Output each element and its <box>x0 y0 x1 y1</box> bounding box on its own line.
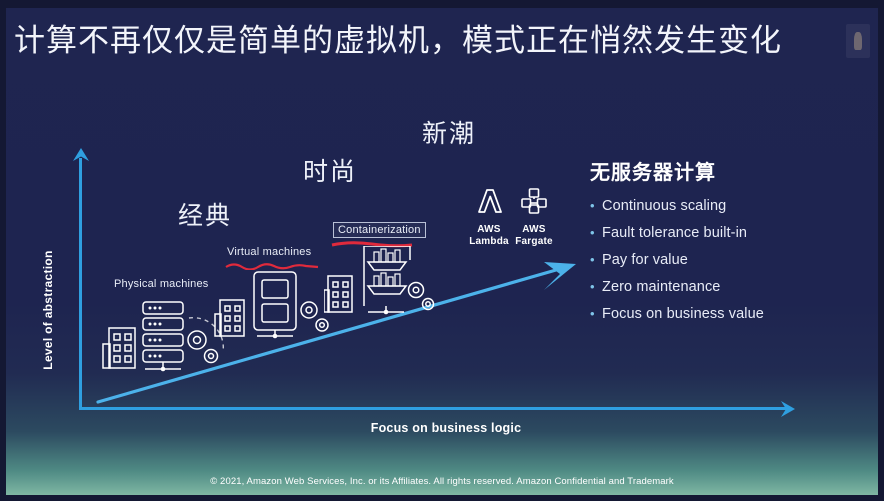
slide-canvas: 计算不再仅仅是简单的虚拟机，模式正在悄然发生变化 Level of abstra… <box>6 8 878 495</box>
illustration-containerization: Containerization <box>324 220 439 315</box>
caption-containerization: Containerization <box>333 222 426 238</box>
service-label-line2: Fargate <box>507 236 561 248</box>
aws-lambda-icon <box>474 186 504 216</box>
virtual-machines-red-underline-icon <box>224 262 320 270</box>
stage-label-classic: 经典 <box>178 196 232 232</box>
y-axis-line <box>79 158 82 410</box>
serverless-panel: 无服务器计算 • Continuous scaling • Fault tole… <box>590 156 870 332</box>
illustration-virtual-machines: Virtual machines <box>214 246 334 341</box>
bullet-text: Continuous scaling <box>602 197 726 215</box>
caption-virtual-machines: Virtual machines <box>227 246 311 258</box>
bullet-dot-icon: • <box>590 278 602 296</box>
stage-label-fashion: 时尚 <box>303 152 357 188</box>
bullet-dot-icon: • <box>590 251 602 269</box>
x-axis-line <box>79 407 791 410</box>
speaker-watermark-icon <box>846 24 870 58</box>
y-axis-arrow-icon <box>72 147 90 163</box>
physical-machines-icon <box>101 296 231 374</box>
list-item: • Pay for value <box>590 251 870 269</box>
bullet-dot-icon: • <box>590 224 602 242</box>
panel-heading: 无服务器计算 <box>590 156 870 185</box>
stage-label-trendy: 新潮 <box>422 114 476 150</box>
bullet-dot-icon: • <box>590 197 602 215</box>
bullet-text: Focus on business value <box>602 305 764 323</box>
service-label-line1: AWS <box>507 224 561 236</box>
bullet-text: Fault tolerance built-in <box>602 224 747 242</box>
caption-physical-machines: Physical machines <box>114 278 209 290</box>
aws-fargate-icon <box>519 186 549 216</box>
list-item: • Continuous scaling <box>590 197 870 215</box>
containerization-icon <box>324 246 436 318</box>
illustration-physical-machines: Physical machines <box>101 278 231 373</box>
x-axis-label: Focus on business logic <box>296 421 596 435</box>
x-axis-arrow-icon <box>778 400 796 418</box>
y-axis-label: Level of abstraction <box>41 250 55 370</box>
list-item: • Focus on business value <box>590 305 870 323</box>
bullet-text: Zero maintenance <box>602 278 720 296</box>
bullet-text: Pay for value <box>602 251 688 269</box>
bullet-dot-icon: • <box>590 305 602 323</box>
slide-title: 计算不再仅仅是简单的虚拟机，模式正在悄然发生变化 <box>14 18 854 64</box>
list-item: • Fault tolerance built-in <box>590 224 870 242</box>
presentation-slide: 计算不再仅仅是简单的虚拟机，模式正在悄然发生变化 Level of abstra… <box>0 0 884 501</box>
service-aws-fargate: AWS Fargate <box>507 186 561 248</box>
list-item: • Zero maintenance <box>590 278 870 296</box>
footer-copyright: © 2021, Amazon Web Services, Inc. or its… <box>6 476 878 487</box>
virtual-machines-icon <box>214 270 332 342</box>
